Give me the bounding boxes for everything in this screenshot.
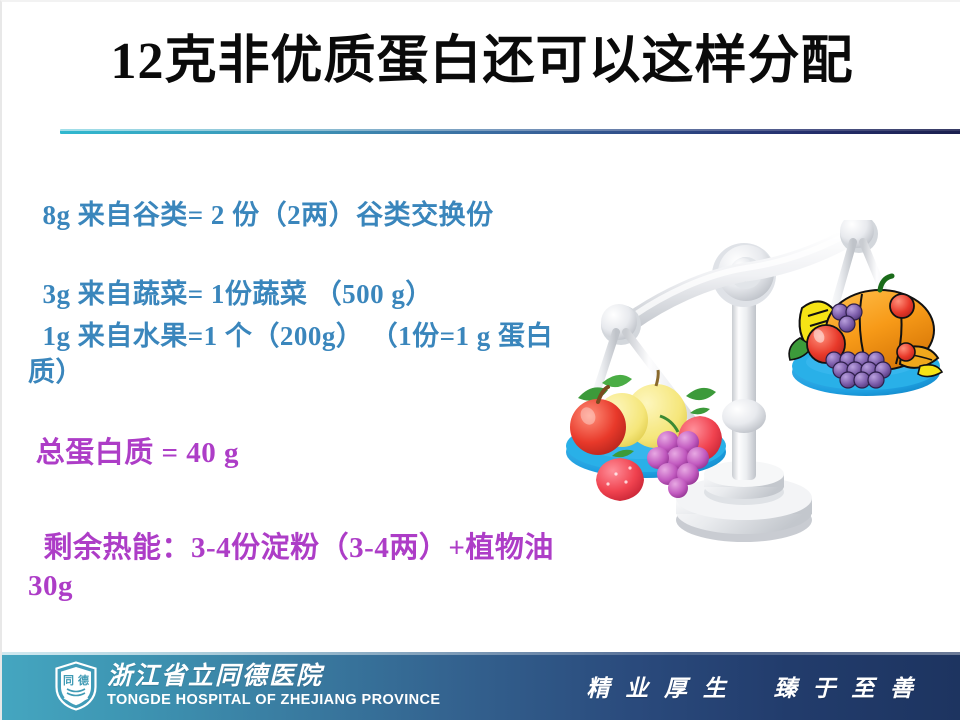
body-line-grain: 8g 来自谷类= 2 份（2两）谷类交换份 bbox=[28, 198, 558, 234]
brand-text-block: 浙江省立同德医院 TONGDE HOSPITAL OF ZHEJIANG PRO… bbox=[107, 664, 440, 708]
svg-text:德: 德 bbox=[77, 673, 89, 687]
hospital-name-cn: 浙江省立同德医院 bbox=[107, 664, 440, 689]
body-line-remaining-energy: 剩余热能：3-4份淀粉（3-4两）+植物油30g bbox=[28, 529, 558, 606]
hospital-brand: 同 德 浙江省立同德医院 TONGDE HOSPITAL OF ZHEJIANG… bbox=[54, 661, 440, 711]
hospital-name-en: TONGDE HOSPITAL OF ZHEJIANG PROVINCE bbox=[107, 693, 440, 708]
body-line-vegetable: 3g 来自蔬菜= 1份蔬菜 （500 g） bbox=[28, 277, 558, 313]
balance-scale-icon bbox=[550, 220, 950, 565]
presentation-slide: 12克非优质蛋白还可以这样分配 8g 来自谷类= 2 份（2两）谷类交换份 3g… bbox=[0, 0, 960, 720]
balance-scale-illustration bbox=[550, 220, 950, 565]
body-line-total-protein: 总蛋白质 = 40 g bbox=[28, 434, 558, 472]
title-divider-highlight bbox=[60, 129, 960, 131]
slide-footer: 同 德 浙江省立同德医院 TONGDE HOSPITAL OF ZHEJIANG… bbox=[2, 652, 960, 720]
footer-top-highlight bbox=[2, 652, 960, 655]
body-line-fruit: 1g 来自水果=1 个（200g） （1份=1 g 蛋白质） bbox=[28, 319, 558, 390]
hospital-slogan: 精 业 厚 生 臻 于 至 善 bbox=[587, 669, 919, 703]
svg-text:同: 同 bbox=[63, 674, 74, 687]
slide-title: 12克非优质蛋白还可以这样分配 bbox=[2, 32, 960, 92]
tongde-hospital-shield-logo-icon: 同 德 bbox=[54, 661, 98, 711]
